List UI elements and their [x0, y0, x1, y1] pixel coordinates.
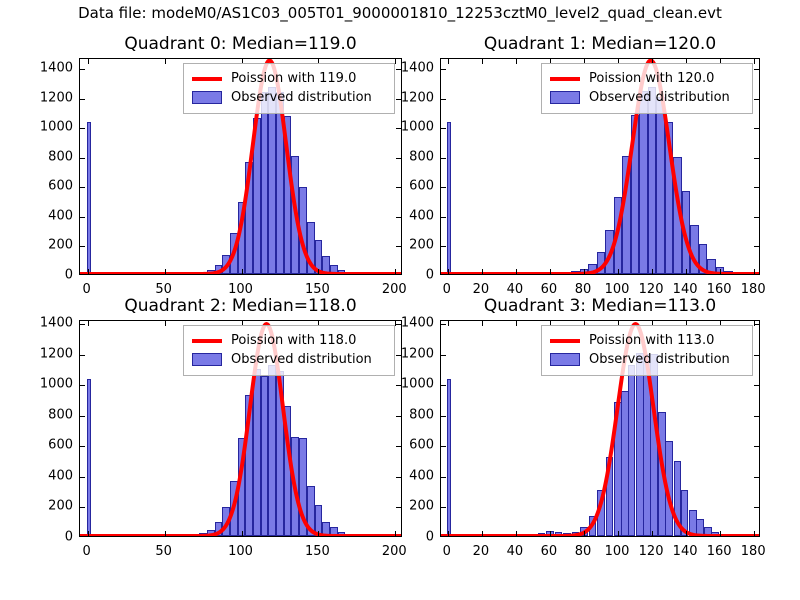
legend-quadrant-2: Poission with 118.0Observed distribution	[183, 325, 395, 376]
y-tick-label: 0	[426, 530, 434, 545]
legend-label-poisson: Poission with 118.0	[231, 334, 356, 347]
x-tick-mark	[516, 321, 517, 326]
legend-label-observed: Observed distribution	[231, 91, 372, 104]
y-tick-mark	[80, 507, 85, 508]
y-tick-mark	[441, 324, 446, 325]
x-tick-label: 180	[741, 540, 766, 559]
x-tick-mark	[165, 531, 166, 536]
legend-label-observed: Observed distribution	[231, 353, 372, 366]
x-tick-mark	[448, 321, 449, 326]
y-tick-label: 200	[48, 499, 73, 514]
legend-entry-observed: Observed distribution	[550, 350, 744, 369]
figure-suptitle: Data file: modeM0/AS1C03_005T01_90000018…	[0, 4, 800, 22]
y-tick-mark	[754, 69, 759, 70]
panel-title-quadrant-3: Quadrant 3: Median=113.0	[440, 296, 760, 316]
legend-box-swatch-icon	[550, 91, 580, 104]
legend-line-swatch-icon	[192, 339, 222, 343]
x-tick-label: 50	[155, 278, 172, 297]
y-tick-mark	[80, 355, 85, 356]
y-tick-label: 1200	[40, 346, 73, 361]
y-tick-mark	[441, 69, 446, 70]
y-tick-mark	[754, 187, 759, 188]
y-tick-label: 0	[426, 268, 434, 283]
y-tick-mark	[80, 446, 85, 447]
y-tick-label: 1400	[401, 61, 434, 76]
y-tick-label: 1000	[40, 377, 73, 392]
y-tick-label: 200	[409, 238, 434, 253]
legend-quadrant-0: Poission with 119.0Observed distribution	[183, 63, 395, 114]
x-tick-label: 200	[382, 540, 407, 559]
legend-label-poisson: Poission with 120.0	[589, 72, 714, 85]
y-tick-mark	[754, 128, 759, 129]
y-tick-mark	[80, 158, 85, 159]
x-tick-label: 180	[741, 278, 766, 297]
y-tick-label: 1400	[401, 316, 434, 331]
panel-title-quadrant-0: Quadrant 0: Median=119.0	[79, 34, 402, 54]
x-tick-mark	[242, 269, 243, 274]
legend-quadrant-1: Poission with 120.0Observed distribution	[541, 63, 753, 114]
x-tick-mark	[550, 531, 551, 536]
x-tick-mark	[482, 321, 483, 326]
x-tick-label: 120	[639, 540, 664, 559]
y-tick-mark	[754, 99, 759, 100]
y-tick-mark	[754, 507, 759, 508]
y-tick-label: 400	[48, 208, 73, 223]
x-tick-mark	[652, 531, 653, 536]
y-tick-label: 800	[48, 149, 73, 164]
legend-label-observed: Observed distribution	[589, 353, 730, 366]
x-tick-mark	[720, 269, 721, 274]
x-tick-mark	[88, 59, 89, 64]
y-tick-label: 200	[409, 499, 434, 514]
x-tick-mark	[395, 59, 396, 64]
legend-box-swatch-icon	[192, 353, 222, 366]
x-tick-mark	[618, 269, 619, 274]
y-tick-label: 1000	[401, 377, 434, 392]
x-tick-mark	[318, 531, 319, 536]
legend-entry-observed: Observed distribution	[192, 88, 386, 107]
x-tick-mark	[88, 531, 89, 536]
x-tick-label: 100	[605, 540, 630, 559]
x-tick-mark	[516, 59, 517, 64]
y-tick-mark	[396, 477, 401, 478]
y-tick-label: 1400	[40, 61, 73, 76]
y-tick-mark	[441, 507, 446, 508]
y-tick-mark	[441, 416, 446, 417]
y-tick-label: 800	[409, 149, 434, 164]
legend-box-swatch-icon	[192, 91, 222, 104]
y-tick-mark	[441, 187, 446, 188]
legend-entry-poisson: Poission with 119.0	[192, 69, 386, 88]
y-tick-label: 600	[409, 179, 434, 194]
x-tick-label: 120	[639, 278, 664, 297]
legend-line-swatch-icon	[550, 339, 580, 343]
x-tick-mark	[720, 531, 721, 536]
plot-area-quadrant-0: Poission with 119.0Observed distribution	[79, 58, 402, 275]
x-tick-label: 150	[305, 540, 330, 559]
x-tick-mark	[652, 269, 653, 274]
y-tick-mark	[441, 385, 446, 386]
y-tick-mark	[441, 217, 446, 218]
x-tick-mark	[165, 321, 166, 326]
x-tick-label: 160	[707, 278, 732, 297]
x-tick-label: 140	[673, 278, 698, 297]
plot-area-quadrant-1: Poission with 120.0Observed distribution	[440, 58, 760, 275]
x-tick-label: 140	[673, 540, 698, 559]
panel-quadrant-2: Quadrant 2: Median=118.0Poission with 11…	[79, 320, 402, 537]
x-tick-mark	[754, 59, 755, 64]
y-tick-mark	[754, 158, 759, 159]
x-tick-label: 80	[575, 540, 592, 559]
y-tick-mark	[80, 217, 85, 218]
y-tick-mark	[754, 385, 759, 386]
y-tick-mark	[396, 446, 401, 447]
x-tick-label: 200	[382, 278, 407, 297]
x-tick-mark	[165, 59, 166, 64]
y-tick-mark	[80, 99, 85, 100]
x-tick-mark	[448, 59, 449, 64]
y-tick-label: 400	[48, 468, 73, 483]
x-tick-mark	[584, 531, 585, 536]
x-tick-label: 100	[605, 278, 630, 297]
x-tick-label: 40	[507, 540, 524, 559]
y-tick-label: 1200	[40, 90, 73, 105]
y-tick-mark	[80, 69, 85, 70]
x-tick-mark	[448, 531, 449, 536]
y-tick-label: 1200	[401, 90, 434, 105]
x-tick-mark	[88, 269, 89, 274]
legend-entry-poisson: Poission with 113.0	[550, 331, 744, 350]
y-tick-mark	[754, 355, 759, 356]
y-tick-label: 800	[48, 407, 73, 422]
y-tick-label: 1000	[40, 120, 73, 135]
x-tick-mark	[395, 269, 396, 274]
x-tick-mark	[482, 531, 483, 536]
y-tick-mark	[80, 477, 85, 478]
y-tick-label: 1000	[401, 120, 434, 135]
y-tick-mark	[396, 217, 401, 218]
x-tick-mark	[318, 269, 319, 274]
x-tick-mark	[686, 269, 687, 274]
x-tick-mark	[516, 269, 517, 274]
panel-title-quadrant-1: Quadrant 1: Median=120.0	[440, 34, 760, 54]
y-tick-mark	[441, 128, 446, 129]
y-tick-label: 400	[409, 468, 434, 483]
y-tick-mark	[396, 246, 401, 247]
x-tick-label: 50	[155, 540, 172, 559]
legend-quadrant-3: Poission with 113.0Observed distribution	[541, 325, 753, 376]
legend-entry-observed: Observed distribution	[550, 88, 744, 107]
y-tick-label: 1200	[401, 346, 434, 361]
x-tick-mark	[618, 531, 619, 536]
y-tick-mark	[396, 187, 401, 188]
legend-entry-observed: Observed distribution	[192, 350, 386, 369]
x-tick-mark	[754, 321, 755, 326]
x-tick-mark	[448, 269, 449, 274]
x-tick-label: 60	[541, 278, 558, 297]
y-tick-label: 600	[48, 438, 73, 453]
legend-label-observed: Observed distribution	[589, 91, 730, 104]
x-tick-label: 100	[228, 278, 253, 297]
y-tick-label: 0	[65, 530, 73, 545]
x-tick-label: 40	[507, 278, 524, 297]
y-tick-mark	[441, 99, 446, 100]
x-tick-label: 20	[473, 540, 490, 559]
x-tick-mark	[395, 531, 396, 536]
y-tick-mark	[80, 385, 85, 386]
x-tick-mark	[584, 269, 585, 274]
y-tick-label: 400	[409, 208, 434, 223]
x-tick-label: 150	[305, 278, 330, 297]
x-tick-label: 160	[707, 540, 732, 559]
y-tick-mark	[754, 217, 759, 218]
figure-canvas: Data file: modeM0/AS1C03_005T01_90000018…	[0, 0, 800, 600]
y-tick-label: 600	[48, 179, 73, 194]
y-tick-label: 200	[48, 238, 73, 253]
y-tick-mark	[441, 477, 446, 478]
y-tick-label: 0	[65, 268, 73, 283]
legend-entry-poisson: Poission with 118.0	[192, 331, 386, 350]
x-tick-label: 0	[443, 540, 451, 559]
y-tick-mark	[396, 158, 401, 159]
x-tick-label: 20	[473, 278, 490, 297]
y-tick-label: 1400	[40, 316, 73, 331]
plot-area-quadrant-3: Poission with 113.0Observed distribution	[440, 320, 760, 537]
x-tick-mark	[482, 269, 483, 274]
legend-entry-poisson: Poission with 120.0	[550, 69, 744, 88]
x-tick-label: 80	[575, 278, 592, 297]
legend-line-swatch-icon	[192, 77, 222, 81]
y-tick-mark	[754, 416, 759, 417]
plot-area-quadrant-2: Poission with 118.0Observed distribution	[79, 320, 402, 537]
x-tick-label: 60	[541, 540, 558, 559]
x-tick-mark	[88, 321, 89, 326]
x-tick-label: 100	[228, 540, 253, 559]
y-tick-mark	[80, 187, 85, 188]
y-tick-mark	[80, 416, 85, 417]
x-tick-label: 0	[83, 540, 91, 559]
y-tick-mark	[80, 128, 85, 129]
y-tick-mark	[80, 246, 85, 247]
y-tick-label: 800	[409, 407, 434, 422]
y-tick-mark	[396, 416, 401, 417]
y-tick-mark	[441, 355, 446, 356]
legend-label-poisson: Poission with 119.0	[231, 72, 356, 85]
x-tick-mark	[550, 269, 551, 274]
legend-line-swatch-icon	[550, 77, 580, 81]
panel-title-quadrant-2: Quadrant 2: Median=118.0	[79, 296, 402, 316]
x-tick-mark	[242, 531, 243, 536]
x-tick-mark	[754, 531, 755, 536]
x-tick-mark	[395, 321, 396, 326]
legend-label-poisson: Poission with 113.0	[589, 334, 714, 347]
x-tick-mark	[686, 531, 687, 536]
x-tick-mark	[754, 269, 755, 274]
x-tick-label: 0	[443, 278, 451, 297]
x-tick-mark	[516, 531, 517, 536]
y-tick-mark	[441, 446, 446, 447]
y-tick-mark	[441, 246, 446, 247]
y-tick-mark	[441, 158, 446, 159]
x-tick-label: 0	[83, 278, 91, 297]
panel-quadrant-0: Quadrant 0: Median=119.0Poission with 11…	[79, 58, 402, 275]
y-tick-mark	[754, 446, 759, 447]
y-tick-mark	[754, 246, 759, 247]
y-tick-mark	[754, 477, 759, 478]
x-tick-mark	[482, 59, 483, 64]
x-tick-mark	[165, 269, 166, 274]
y-tick-label: 600	[409, 438, 434, 453]
legend-box-swatch-icon	[550, 353, 580, 366]
panel-quadrant-1: Quadrant 1: Median=120.0Poission with 12…	[440, 58, 760, 275]
y-tick-mark	[396, 507, 401, 508]
y-tick-mark	[80, 324, 85, 325]
panel-quadrant-3: Quadrant 3: Median=113.0Poission with 11…	[440, 320, 760, 537]
